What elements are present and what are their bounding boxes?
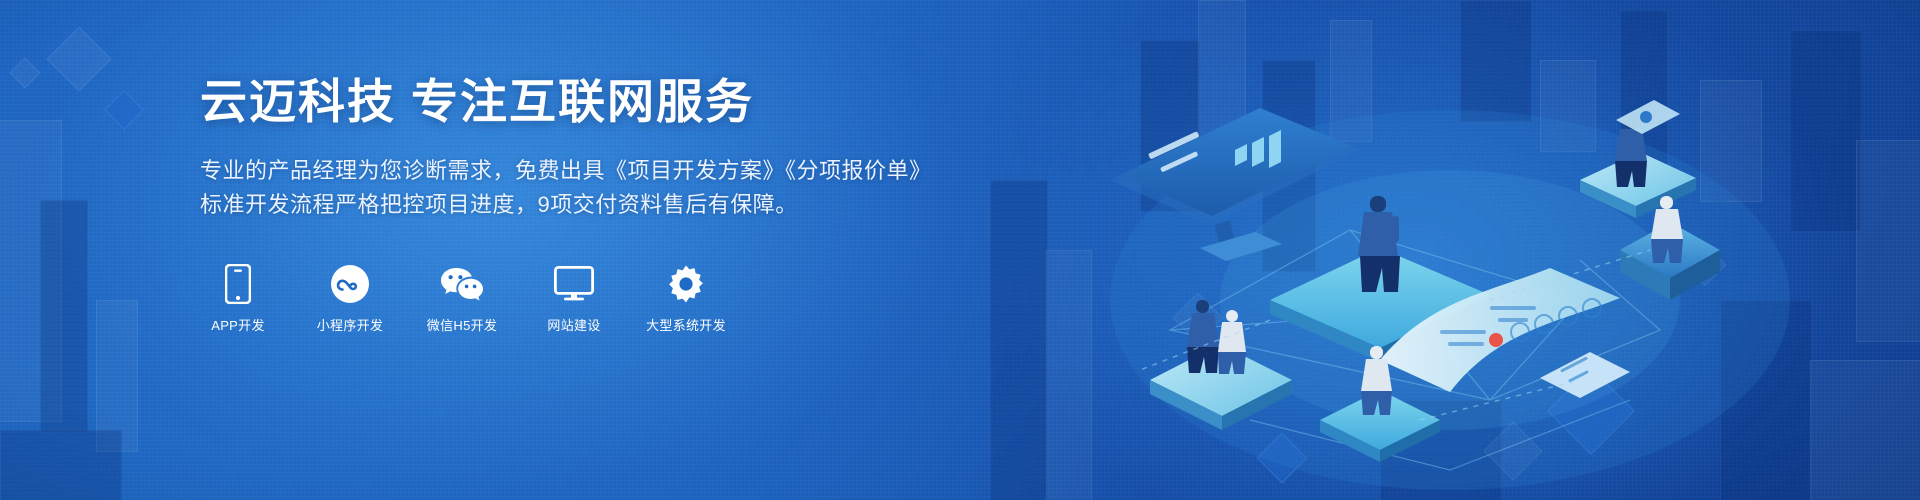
service-label: 大型系统开发 bbox=[646, 318, 726, 334]
banner-content: 云迈科技 专注互联网服务 专业的产品经理为您诊断需求，免费出具《项目开发方案》《… bbox=[200, 0, 960, 334]
mini-program-icon bbox=[330, 264, 370, 304]
gear-icon bbox=[666, 264, 706, 304]
service-label: 微信H5开发 bbox=[427, 318, 497, 334]
service-item-wechat[interactable]: 微信H5开发 bbox=[424, 264, 500, 334]
service-label: 网站建设 bbox=[547, 318, 600, 334]
hero-banner: 云迈科技 专注互联网服务 专业的产品经理为您诊断需求，免费出具《项目开发方案》《… bbox=[0, 0, 1920, 500]
service-label: 小程序开发 bbox=[317, 318, 384, 334]
subtitle-line-1: 专业的产品经理为您诊断需求，免费出具《项目开发方案》《分项报价单》 bbox=[200, 129, 960, 188]
service-item-website[interactable]: 网站建设 bbox=[536, 264, 612, 334]
monitor-icon bbox=[554, 264, 594, 304]
service-label: APP开发 bbox=[211, 318, 265, 334]
page-title: 云迈科技 专注互联网服务 bbox=[200, 0, 960, 129]
mobile-phone-icon bbox=[225, 264, 251, 304]
service-item-miniprogram[interactable]: 小程序开发 bbox=[312, 264, 388, 334]
service-list: APP开发 小程序开发 bbox=[200, 222, 960, 334]
wechat-icon bbox=[439, 264, 485, 304]
subtitle-line-2: 标准开发流程严格把控项目进度，9项交付资料售后有保障。 bbox=[200, 188, 960, 222]
isometric-business-illustration bbox=[1020, 0, 1920, 500]
service-item-system[interactable]: 大型系统开发 bbox=[648, 264, 724, 334]
service-item-app[interactable]: APP开发 bbox=[200, 264, 276, 334]
